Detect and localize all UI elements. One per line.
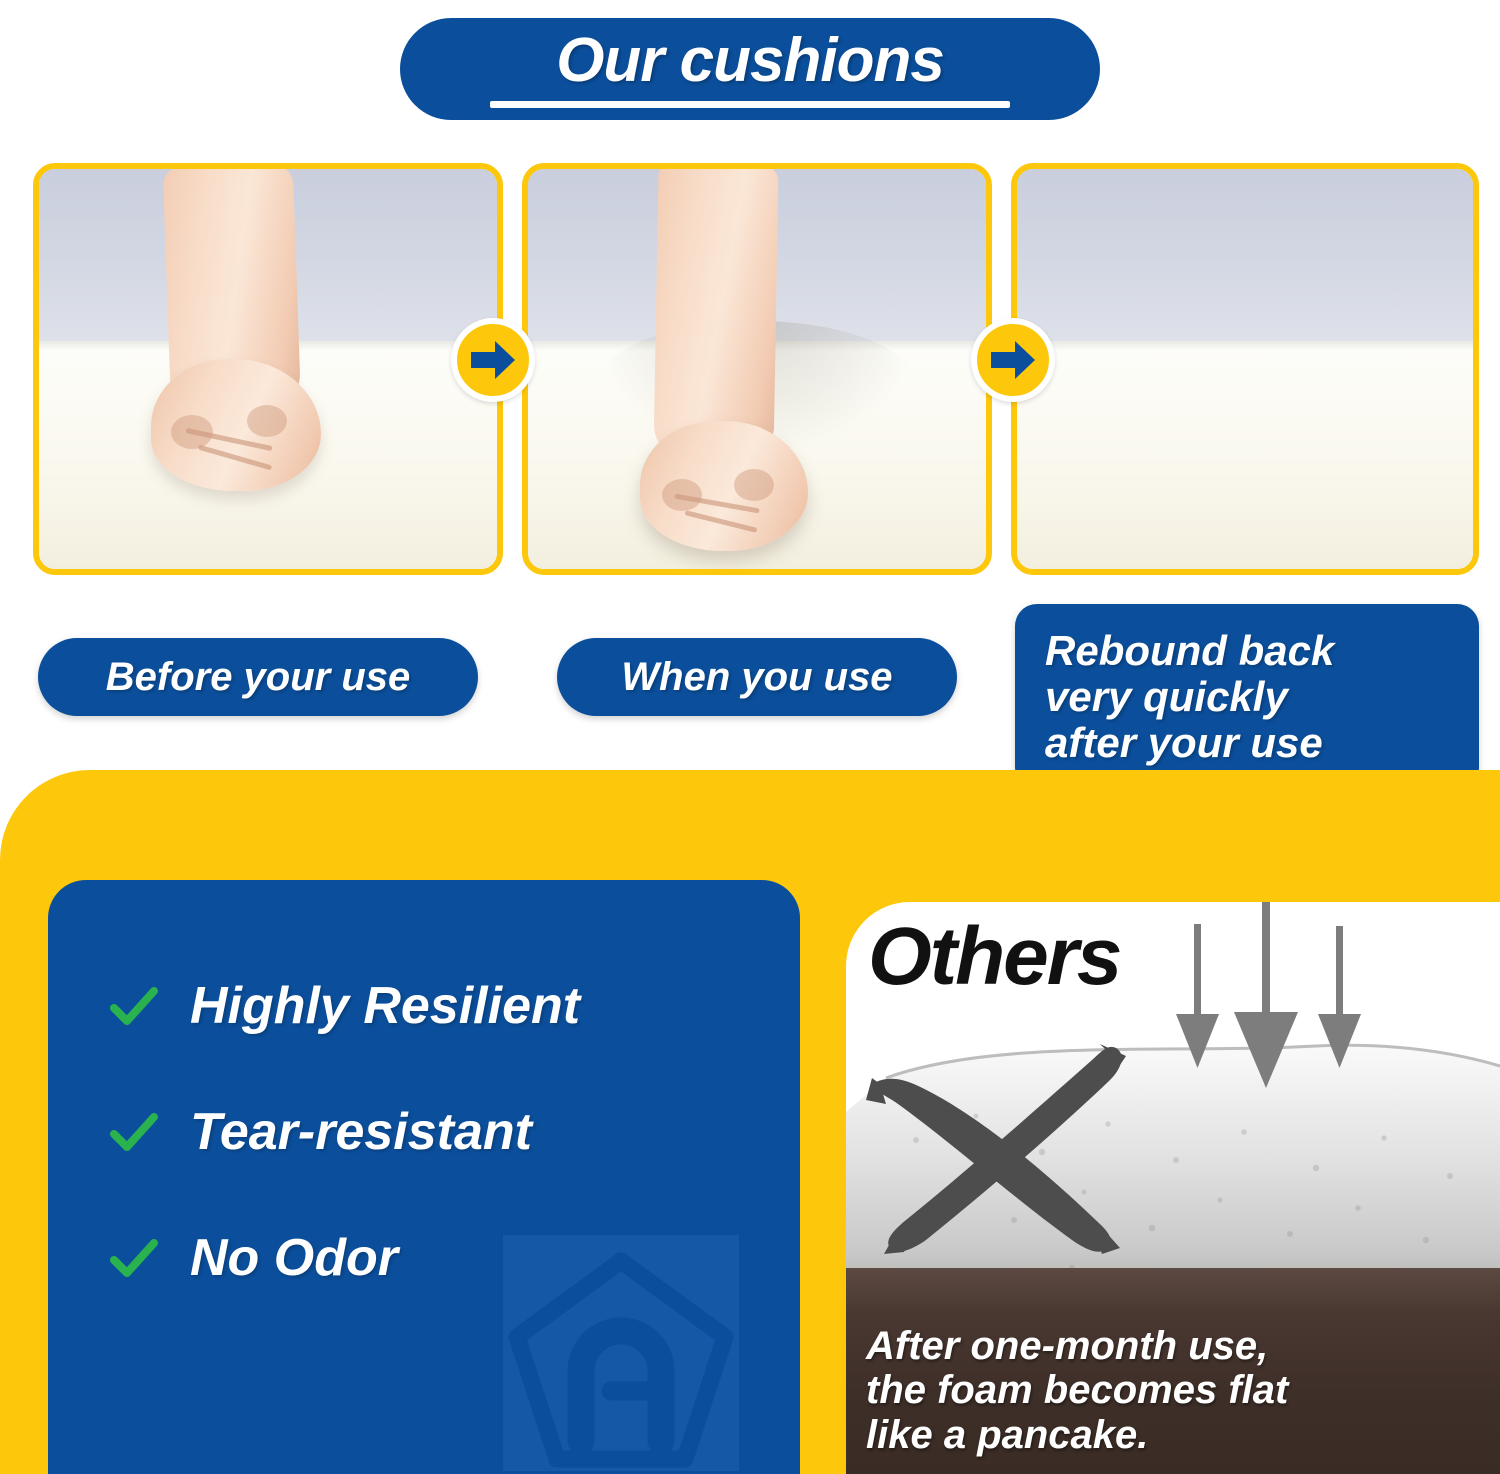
knuckle	[171, 415, 213, 449]
feature-label: Tear-resistant	[190, 1106, 532, 1158]
step-label-text: Rebound back very quickly after your use	[1045, 628, 1334, 767]
downward-pressure-arrows-icon	[1146, 902, 1386, 1112]
feature-label: No Odor	[190, 1232, 398, 1284]
knuckle	[662, 479, 702, 511]
title-underline	[490, 101, 1010, 108]
photo-foam-surface	[1017, 341, 1473, 569]
knuckle	[734, 469, 774, 501]
step-label-text: When you use	[621, 656, 892, 698]
step-label-text: Before your use	[106, 656, 411, 698]
fist-shape	[640, 421, 808, 551]
finger-crease	[684, 510, 757, 533]
step-label-when-you-use: When you use	[557, 638, 957, 716]
comparison-section: Highly Resilient Tear-resistant No Odor	[0, 770, 1500, 1474]
our-cushions-section: Our cushions	[0, 0, 1500, 800]
right-arrow-icon	[971, 318, 1055, 402]
step-label-rebound: Rebound back very quickly after your use	[1015, 604, 1479, 790]
step-photo-when-you-use	[522, 163, 992, 575]
green-check-icon	[110, 982, 158, 1030]
others-caption: After one-month use, the foam becomes fl…	[866, 1324, 1490, 1458]
photo-background-wall	[1017, 169, 1473, 349]
green-check-icon	[110, 1108, 158, 1156]
others-title: Others	[868, 916, 1120, 998]
step-label-before-your-use: Before your use	[38, 638, 478, 716]
step-photo-before-your-use	[33, 163, 503, 575]
feature-label: Highly Resilient	[190, 980, 580, 1032]
page-title-badge: Our cushions	[400, 18, 1100, 120]
foam-edge-shadow	[1017, 341, 1473, 351]
knuckle	[247, 405, 287, 437]
our-product-features-panel: Highly Resilient Tear-resistant No Odor	[48, 880, 800, 1474]
brush-x-mark-icon	[864, 1030, 1144, 1262]
forearm-shape	[653, 163, 778, 464]
page-title: Our cushions	[556, 30, 944, 92]
green-check-icon	[110, 1234, 158, 1282]
feature-item-tear-resistant: Tear-resistant	[110, 1106, 532, 1158]
pentagon-a-logo-watermark	[503, 1235, 739, 1471]
right-arrow-icon	[451, 318, 535, 402]
step-photo-rebound	[1011, 163, 1479, 575]
others-product-panel: Others After one-month use, the foam bec…	[846, 902, 1500, 1474]
feature-item-no-odor: No Odor	[110, 1232, 398, 1284]
feature-item-highly-resilient: Highly Resilient	[110, 980, 580, 1032]
